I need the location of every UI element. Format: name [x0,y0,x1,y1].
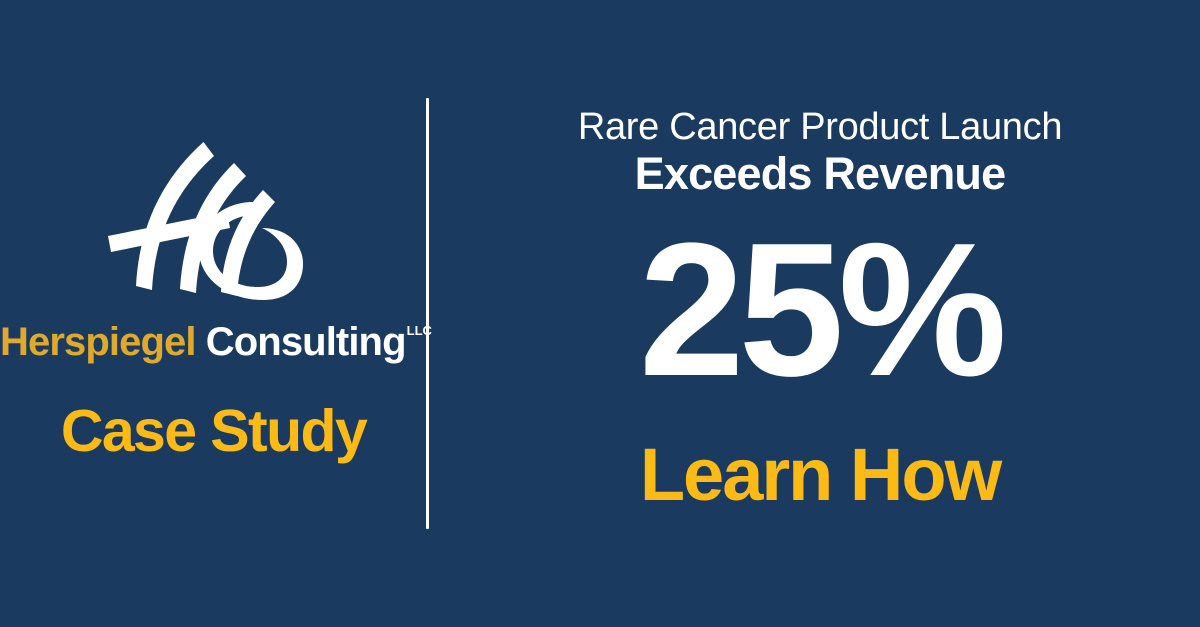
case-study-label: Case Study [0,398,427,466]
promo-banner: Herspiegel ConsultingLLC Case Study Rare… [0,0,1200,627]
vertical-divider [426,98,429,529]
logo-wordmark-primary: Herspiegel [0,320,196,364]
learn-how-cta[interactable]: Learn How [560,438,1080,512]
stat-value: 25% [560,215,1080,405]
headline-line-2: Exceeds Revenue [560,149,1080,199]
right-panel-message: Rare Cancer Product Launch Exceeds Reven… [460,0,1200,627]
logo-wordmark: Herspiegel ConsultingLLC [0,322,427,362]
left-panel-brand: Herspiegel ConsultingLLC Case Study [0,0,427,627]
herspiegel-hc-monogram-icon [103,140,303,312]
logo-wordmark-secondary: Consulting [206,320,406,364]
headline-line-1: Rare Cancer Product Launch [560,107,1080,147]
headline-block: Rare Cancer Product Launch Exceeds Reven… [560,107,1080,200]
